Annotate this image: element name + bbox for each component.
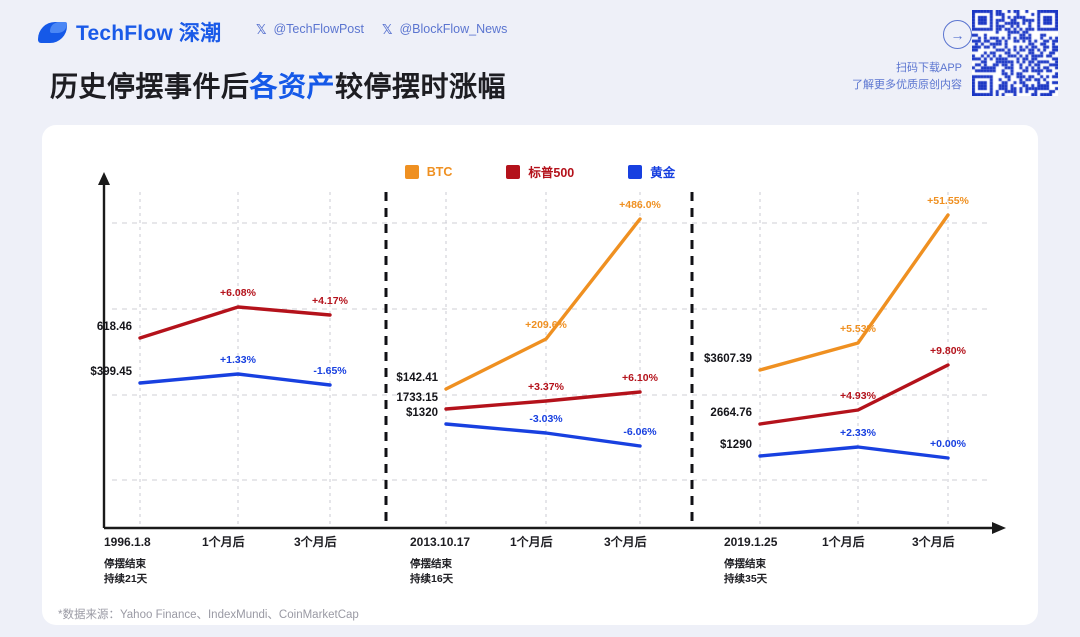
page-title-highlight: 各资产 (250, 71, 336, 102)
data-label-btc: +51.55% (927, 195, 969, 207)
series-line-btc[interactable] (760, 215, 948, 370)
social-handle-blockflownews[interactable]: 𝕏 @BlockFlow_News (382, 22, 507, 36)
qr-caption: 扫码下载APP 了解更多优质原创内容 (852, 10, 962, 94)
x-tick-label: 2019.1.25 (724, 535, 778, 549)
social-handle-techflowpost[interactable]: 𝕏 @TechFlowPost (256, 22, 364, 36)
qr-code-icon[interactable] (972, 10, 1058, 96)
data-label-sp500: +4.93% (840, 390, 877, 402)
x-twitter-icon: 𝕏 (256, 23, 266, 36)
data-label-sp500: +3.37% (528, 381, 565, 393)
brand-name: TechFlow 深潮 (76, 17, 221, 47)
social-handles: 𝕏 @TechFlowPost 𝕏 @BlockFlow_News (256, 22, 507, 36)
x-tick-label: 2013.10.17 (410, 535, 470, 549)
x-tick-label: 1个月后 (202, 534, 245, 549)
y-axis-arrow-icon (98, 172, 110, 185)
x-twitter-icon: 𝕏 (382, 23, 392, 36)
x-axis-arrow-icon (992, 522, 1006, 534)
page-title-part2: 较停摆时涨幅 (335, 71, 506, 102)
series-start-label-gold: $399.45 (90, 366, 132, 378)
infographic-root: TechFlow 深潮 𝕏 @TechFlowPost 𝕏 @BlockFlow… (0, 0, 1080, 637)
x-tick-label: 1996.1.8 (104, 535, 151, 549)
qr-caption-line2: 了解更多优质原创内容 (852, 77, 962, 94)
series-line-sp500[interactable] (140, 307, 330, 338)
line-chart-plot: 618.46+6.08%+4.17%$399.45+1.33%-1.65%199… (42, 125, 1038, 625)
data-label-sp500: +6.10% (622, 372, 659, 384)
data-label-gold: +1.33% (220, 354, 257, 366)
data-label-btc: +5.53% (840, 323, 877, 335)
series-start-label-btc: $3607.39 (704, 353, 752, 365)
techflow-leaf-logo-icon (38, 22, 67, 43)
x-tick-label: 3个月后 (294, 534, 337, 549)
x-tick-label: 3个月后 (604, 534, 647, 549)
qr-caption-line1: 扫码下载APP (852, 60, 962, 77)
data-label-gold: -6.06% (623, 426, 657, 438)
series-start-label-gold: $1320 (406, 407, 438, 419)
page-title: 历史停摆事件后各资产较停摆时涨幅 (50, 65, 506, 105)
series-start-label-btc: $142.41 (396, 372, 438, 384)
handle-label: @BlockFlow_News (399, 22, 507, 36)
data-label-gold: +0.00% (930, 438, 967, 450)
x-tick-label: 1个月后 (822, 534, 865, 549)
source-note: *数据来源：Yahoo Finance、IndexMundi、CoinMarke… (58, 606, 359, 622)
data-label-gold: +2.33% (840, 427, 877, 439)
data-label-btc: +486.0% (619, 199, 661, 211)
page-header: TechFlow 深潮 𝕏 @TechFlowPost 𝕏 @BlockFlow… (0, 0, 1080, 115)
panel-sublabel-end: 停摆结束 (724, 557, 766, 570)
series-line-gold[interactable] (446, 424, 640, 446)
data-label-btc: +209.6% (525, 319, 567, 331)
series-start-label-sp500: 2664.76 (710, 407, 752, 419)
x-tick-label: 3个月后 (912, 534, 955, 549)
series-start-label-sp500: 618.46 (97, 321, 132, 333)
series-line-gold[interactable] (760, 447, 948, 458)
series-line-gold[interactable] (140, 374, 330, 385)
brand-logo[interactable]: TechFlow 深潮 (38, 17, 221, 47)
data-label-gold: -1.65% (313, 365, 347, 377)
data-label-sp500: +6.08% (220, 287, 257, 299)
series-start-label-gold: $1290 (720, 439, 752, 451)
panel-sublabel-duration: 持续21天 (104, 572, 148, 585)
x-tick-label: 1个月后 (510, 534, 553, 549)
panel-sublabel-end: 停摆结束 (104, 557, 146, 570)
series-line-btc[interactable] (446, 219, 640, 389)
data-label-sp500: +9.80% (930, 345, 967, 357)
panel-sublabel-duration: 持续35天 (724, 572, 768, 585)
data-label-sp500: +4.17% (312, 295, 349, 307)
panel-sublabel-end: 停摆结束 (410, 557, 452, 570)
page-title-part1: 历史停摆事件后 (50, 71, 250, 102)
handle-label: @TechFlowPost (273, 22, 364, 36)
series-start-label-sp500: 1733.15 (396, 392, 438, 404)
chart-card: BTC 标普500 黄金 618.46+6.08%+4.17%$399.45+1… (42, 125, 1038, 625)
qr-download-block: 扫码下载APP 了解更多优质原创内容 (852, 10, 1058, 96)
data-label-gold: -3.03% (529, 413, 563, 425)
panel-sublabel-duration: 持续16天 (410, 572, 454, 585)
